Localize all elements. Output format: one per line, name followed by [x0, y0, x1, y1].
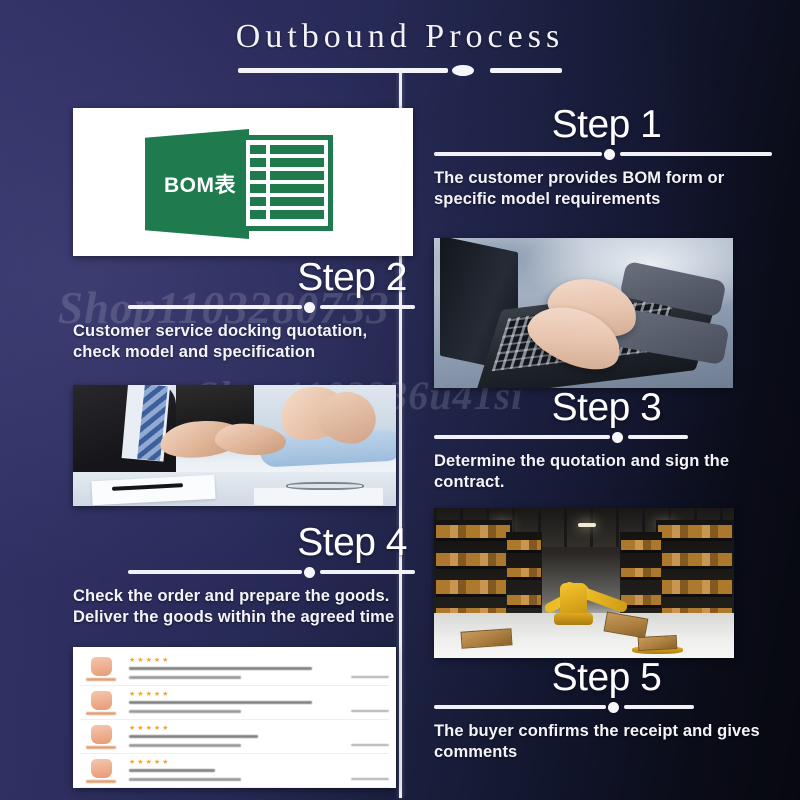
step-rule-dot — [608, 702, 619, 713]
robot-body — [560, 583, 587, 616]
rack-shelf — [658, 553, 731, 569]
avatar — [91, 657, 112, 676]
review-avatar-col — [80, 691, 122, 715]
review-date — [351, 744, 389, 747]
step-4-title: Step 4 — [73, 523, 415, 562]
avatar — [91, 691, 112, 710]
bom-icon-grid — [241, 135, 333, 231]
star-rating: ★ ★ ★ ★ ★ — [129, 691, 344, 698]
star-icon: ★ — [129, 657, 135, 664]
step-1-description: The customer provides BOM form or specif… — [434, 168, 779, 211]
star-icon: ★ — [146, 725, 152, 732]
review-username — [86, 746, 116, 749]
step-rule-left-bar — [434, 152, 602, 156]
step-1-rule — [434, 149, 779, 159]
rack-shelf — [436, 525, 509, 541]
step-rule-dot — [304, 302, 315, 313]
step-rule-left-bar — [128, 305, 302, 309]
review-text-line — [129, 769, 215, 772]
star-icon: ★ — [137, 725, 143, 732]
review-meta-line — [129, 778, 241, 781]
review-avatar-col — [80, 657, 122, 681]
step-rule-right-bar — [320, 570, 415, 574]
star-icon: ★ — [146, 759, 152, 766]
step-3-rule — [434, 432, 779, 442]
avatar — [91, 725, 112, 744]
ceiling-light — [578, 523, 596, 527]
review-text-line — [129, 701, 312, 704]
step-5-description: The buyer confirms the receipt and gives… — [434, 721, 779, 764]
star-icon: ★ — [162, 657, 168, 664]
page-title: Outbound Process — [0, 18, 800, 55]
star-icon: ★ — [137, 691, 143, 698]
review-text-line — [129, 667, 312, 670]
review-username — [86, 780, 116, 783]
star-icon: ★ — [129, 725, 135, 732]
step-rule-dot — [304, 567, 315, 578]
step-4-description: Check the order and prepare the goods. D… — [73, 586, 415, 629]
step-4-rule — [73, 567, 415, 577]
rack-shelf — [507, 540, 541, 553]
review-body: ★ ★ ★ ★ ★ — [129, 759, 344, 783]
bom-grid-row — [250, 158, 324, 167]
star-icon: ★ — [154, 691, 160, 698]
bom-form-icon-image: BOM表 — [73, 108, 413, 256]
title-rule-right-bar — [490, 68, 562, 73]
step-rule-left-bar — [434, 435, 610, 439]
step-3-title: Step 3 — [434, 388, 779, 427]
review-body: ★ ★ ★ ★ ★ — [129, 691, 344, 715]
review-row: ★ ★ ★ ★ ★ — [80, 720, 389, 754]
step-rule-dot — [604, 149, 615, 160]
star-rating: ★ ★ ★ ★ ★ — [129, 725, 344, 732]
review-username — [86, 678, 116, 681]
handshake-image — [73, 385, 396, 506]
rack-shelf — [507, 595, 541, 608]
handshake-glasses — [286, 482, 364, 490]
step-2-description: Customer service docking quotation, chec… — [73, 321, 415, 364]
review-meta-line — [129, 710, 241, 713]
star-icon: ★ — [162, 759, 168, 766]
review-avatar-col — [80, 725, 122, 749]
rack-shelf — [621, 540, 661, 553]
step-2-rule — [73, 302, 415, 312]
rack-shelf — [658, 525, 731, 541]
bom-icon-graphic: BOM表 — [145, 125, 341, 239]
title-rule-left-bar — [238, 68, 448, 73]
star-icon: ★ — [154, 657, 160, 664]
review-body: ★ ★ ★ ★ ★ — [129, 657, 344, 681]
review-date — [351, 778, 389, 781]
step-rule-dot — [612, 432, 623, 443]
step-rule-right-bar — [624, 705, 694, 709]
step-rule-right-bar — [620, 152, 772, 156]
star-icon: ★ — [154, 759, 160, 766]
review-meta-line — [129, 676, 241, 679]
laptop-typing-image — [434, 238, 733, 388]
step-rule-left-bar — [128, 570, 302, 574]
step-5-block: Step 5 The buyer confirms the receipt an… — [434, 658, 779, 764]
review-date — [351, 710, 389, 713]
step-1-block: Step 1 The customer provides BOM form or… — [434, 105, 779, 211]
star-rating: ★ ★ ★ ★ ★ — [129, 657, 344, 664]
title-rule-dot — [452, 65, 474, 76]
bom-grid-row — [250, 197, 324, 206]
star-icon: ★ — [146, 691, 152, 698]
star-rating: ★ ★ ★ ★ ★ — [129, 759, 344, 766]
step-rule-right-bar — [320, 305, 415, 309]
step-5-rule — [434, 702, 779, 712]
cardboard-box — [638, 634, 678, 650]
bom-grid-row — [250, 145, 324, 154]
bom-grid-row — [250, 210, 324, 219]
step-2-title: Step 2 — [73, 258, 415, 297]
star-icon: ★ — [129, 759, 135, 766]
rack-shelf — [507, 568, 541, 581]
bom-grid-row — [250, 171, 324, 180]
rack-shelf — [621, 568, 661, 581]
star-icon: ★ — [162, 725, 168, 732]
step-2-block: Step 2 Customer service docking quotatio… — [73, 258, 415, 364]
rack-shelf — [658, 580, 731, 596]
step-rule-right-bar — [628, 435, 688, 439]
review-row: ★ ★ ★ ★ ★ — [80, 754, 389, 788]
review-text-line — [129, 735, 258, 738]
bom-icon-label: BOM表 — [164, 169, 236, 199]
rack-shelf — [436, 580, 509, 596]
review-avatar-col — [80, 759, 122, 783]
star-icon: ★ — [129, 691, 135, 698]
step-5-title: Step 5 — [434, 658, 779, 697]
warehouse-robot-image — [434, 508, 734, 658]
star-icon: ★ — [137, 759, 143, 766]
review-row: ★ ★ ★ ★ ★ — [80, 652, 389, 686]
step-3-description: Determine the quotation and sign the con… — [434, 451, 779, 494]
page-title-block: Outbound Process — [0, 18, 800, 74]
avatar — [91, 759, 112, 778]
star-icon: ★ — [162, 691, 168, 698]
robot-base — [554, 613, 593, 625]
cardboard-box — [460, 628, 512, 648]
review-username — [86, 712, 116, 715]
rack-shelf — [436, 553, 509, 569]
review-body: ★ ★ ★ ★ ★ — [129, 725, 344, 749]
review-date — [351, 676, 389, 679]
star-icon: ★ — [137, 657, 143, 664]
bom-grid-row — [250, 184, 324, 193]
review-meta-line — [129, 744, 241, 747]
outbound-process-infographic: Outbound Process Shop1103280733 Shop1103… — [0, 0, 800, 800]
star-icon: ★ — [146, 657, 152, 664]
step-1-title: Step 1 — [434, 105, 779, 144]
customer-reviews-image: ★ ★ ★ ★ ★ ★ — [73, 647, 396, 788]
step-rule-left-bar — [434, 705, 606, 709]
star-icon: ★ — [154, 725, 160, 732]
step-4-block: Step 4 Check the order and prepare the g… — [73, 523, 415, 629]
step-3-block: Step 3 Determine the quotation and sign … — [434, 388, 779, 494]
review-row: ★ ★ ★ ★ ★ — [80, 686, 389, 720]
bom-icon-panel: BOM表 — [145, 129, 249, 239]
